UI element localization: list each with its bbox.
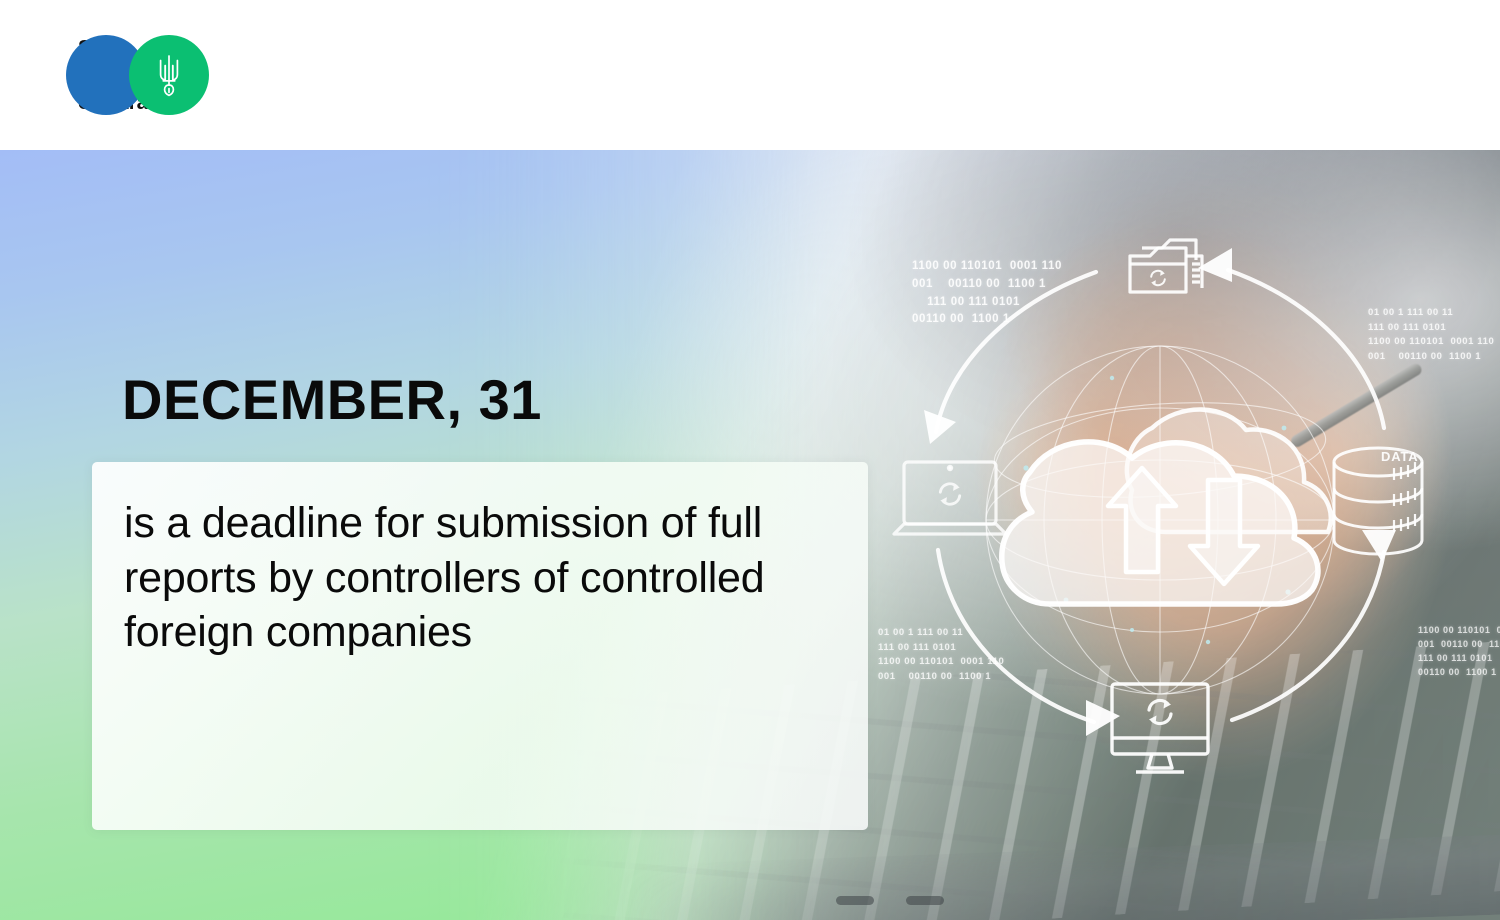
laptop-port-right	[906, 896, 944, 905]
poster-canvas: State Tax Service of Ukraine	[0, 0, 1500, 920]
header-bar: State Tax Service of Ukraine	[0, 0, 1500, 150]
binary-overlay-bottom-left: 01 00 1 111 00 11 111 00 111 0101 1100 0…	[878, 626, 1004, 685]
page-title: DECEMBER, 31	[122, 372, 542, 428]
message-text: is a deadline for submission of full rep…	[124, 496, 868, 660]
laptop-port-left	[836, 896, 874, 905]
logo-green-circle-icon	[129, 35, 209, 115]
binary-overlay-top-right: 01 00 1 111 00 11 111 00 111 0101 1100 0…	[1368, 306, 1494, 365]
binary-overlay-bottom-right: 1100 00 110101 0001 110 001 00110 00 110…	[1418, 624, 1500, 680]
message-panel: is a deadline for submission of full rep…	[92, 462, 868, 830]
data-label: DATA	[1381, 449, 1418, 464]
ukraine-trident-icon	[152, 52, 186, 98]
logo: State Tax Service of Ukraine	[66, 35, 226, 115]
binary-overlay-top-left: 1100 00 110101 0001 110 001 00110 00 110…	[912, 258, 1062, 329]
